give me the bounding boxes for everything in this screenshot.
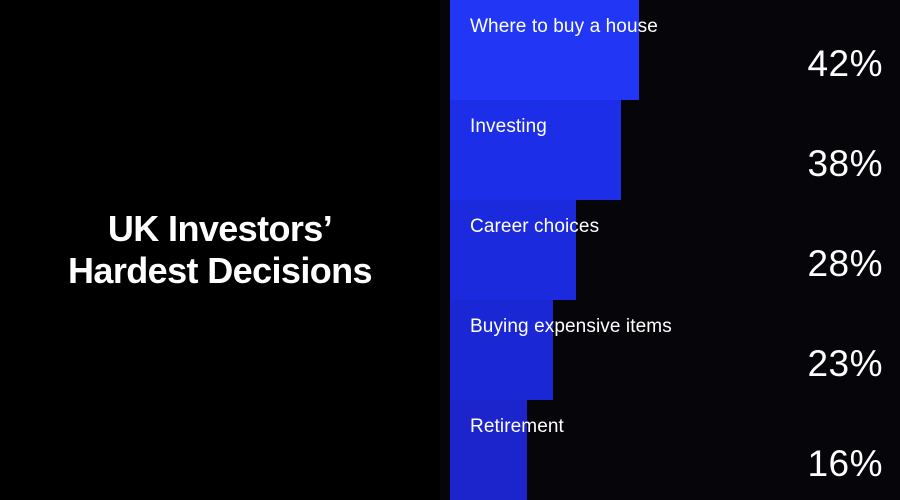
chart-row: Buying expensive items 23% [0,300,900,400]
bar-label: Investing [470,116,547,138]
chart-row: Investing 38% [0,100,900,200]
bar-retirement [450,400,527,500]
bar-career-choices [450,200,576,300]
bar-label: Buying expensive items [470,316,672,338]
chart-row: Where to buy a house 42% [0,0,900,100]
bar-label: Where to buy a house [470,16,658,38]
chart-row: Retirement 16% [0,400,900,500]
bar-chart-rows: Where to buy a house 42% Investing 38% C… [0,0,900,500]
bar-value: 23% [807,345,883,382]
bar-investing [450,100,621,200]
bar-value: 38% [807,145,883,182]
chart-row: Career choices 28% [0,200,900,300]
bar-value: 42% [807,45,883,82]
infographic-chart: UK Investors’ Hardest Decisions Where to… [0,0,900,500]
bar-value: 16% [807,445,883,482]
bar-buying-expensive-items [450,300,553,400]
bar-value: 28% [807,245,883,282]
bar-label: Retirement [470,416,564,438]
bar-label: Career choices [470,216,599,238]
bar-where-to-buy-a-house [450,0,639,100]
